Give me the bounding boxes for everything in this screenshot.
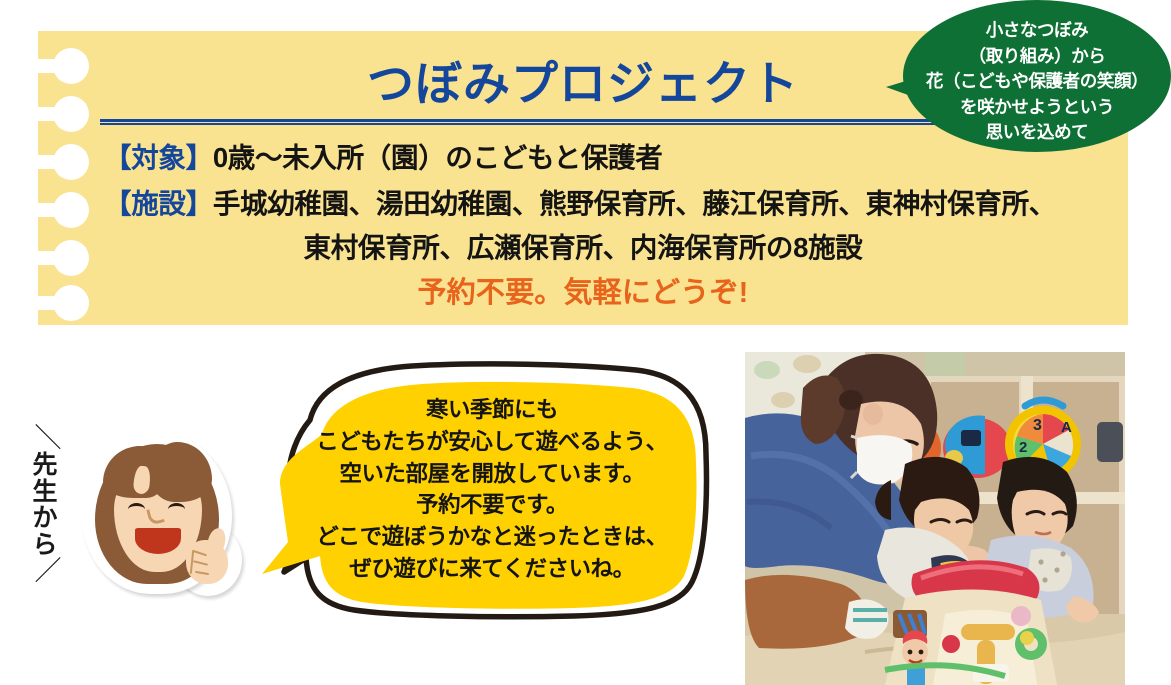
teacher-label-char: 生 <box>24 479 66 506</box>
green-callout-bubble: 小さなつぼみ （取り組み）から 花（こどもや保護者の笑顔） を咲かせようという … <box>903 0 1171 152</box>
teacher-avatar <box>78 428 244 612</box>
svg-text:2: 2 <box>1019 439 1027 456</box>
teacher-label-char: 先 <box>24 452 66 479</box>
teacher-speech-text: 寒い季節にも こどもたちが安心して遊べるよう、 空いた部屋を開放しています。 予… <box>296 394 688 585</box>
target-value: 0歳〜未入所（園）のこどもと保護者 <box>213 142 663 173</box>
punch-hole <box>36 203 82 217</box>
avatar-eye-left <box>128 503 145 516</box>
slash-top-icon: ＼ <box>27 425 69 452</box>
facility-line-2: 東村保育所、広瀬保育所、内海保育所の8施設 <box>38 225 1128 265</box>
teacher-label: ＼ 先 生 か ら ／ <box>24 425 66 585</box>
svg-text:A: A <box>1061 419 1072 436</box>
photo-illustration: 3 2 A <box>745 352 1125 685</box>
target-line: 【対象】0歳〜未入所（園）のこどもと保護者 <box>104 135 662 175</box>
facility-value-1: 手城幼稚園、湯田幼稚園、熊野保育所、藤江保育所、東神村保育所、 <box>213 188 1056 219</box>
target-label: 【対象】 <box>104 142 213 173</box>
slash-bottom-icon: ／ <box>27 558 69 585</box>
avatar-eye-right <box>168 503 185 516</box>
classroom-photo: 3 2 A <box>745 352 1125 685</box>
teacher-label-char: か <box>24 505 66 532</box>
svg-text:3: 3 <box>1033 417 1042 434</box>
teacher-label-char: ら <box>24 532 66 559</box>
facility-line-1: 【施設】手城幼稚園、湯田幼稚園、熊野保育所、藤江保育所、東神村保育所、 <box>104 181 1056 221</box>
teacher-speech-bubble: 寒い季節にも こどもたちが安心して遊べるよう、 空いた部屋を開放しています。 予… <box>244 358 714 620</box>
green-callout-text: 小さなつぼみ （取り組み）から 花（こどもや保護者の笑顔） を咲かせようという … <box>903 18 1171 146</box>
facility-label: 【施設】 <box>104 188 213 219</box>
punch-hole <box>36 155 82 169</box>
notice-text: 予約不要。気軽にどうぞ! <box>38 269 1128 311</box>
facility-value-2: 東村保育所、広瀬保育所、内海保育所の8施設 <box>304 232 863 263</box>
